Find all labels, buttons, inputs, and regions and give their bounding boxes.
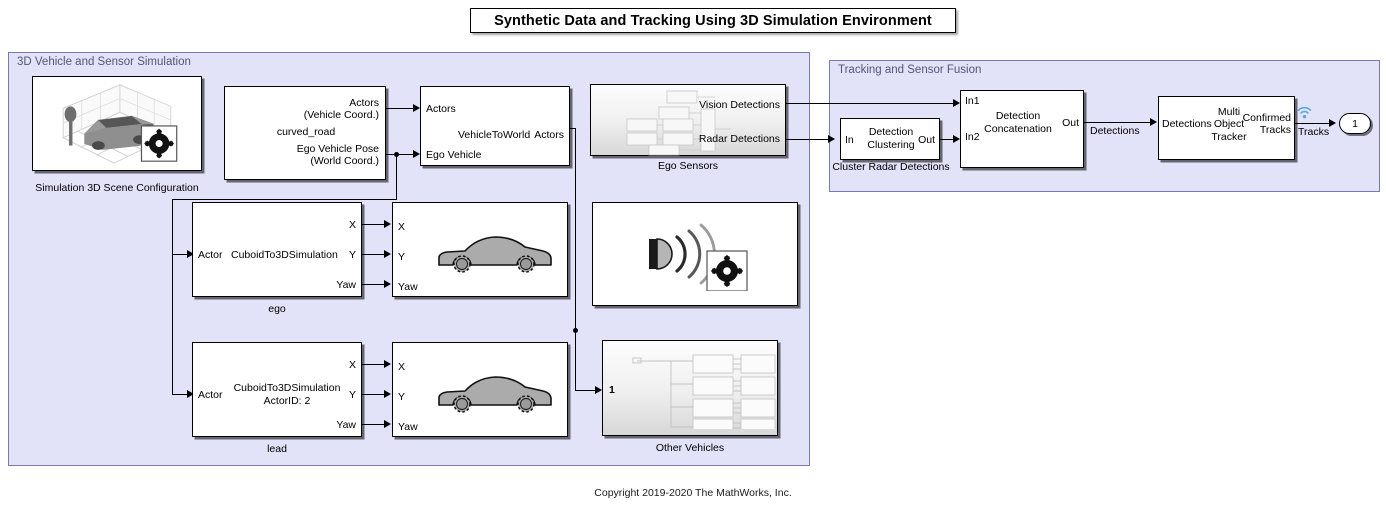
- block-label-other-vehicles: Other Vehicles: [602, 442, 778, 454]
- panel-left-title: 3D Vehicle and Sensor Simulation: [17, 56, 191, 68]
- wire-ego-x: [362, 224, 386, 225]
- wire-v2w-out-down: [575, 128, 576, 390]
- wire-ego-y: [362, 254, 386, 255]
- outport-tracks[interactable]: 1: [1339, 113, 1371, 134]
- arrow-outport-in: [1329, 119, 1336, 127]
- block-name-vehicle-to-world: VehicleToWorld: [458, 129, 530, 141]
- junction-actors-out: [573, 328, 578, 333]
- wire-detections: [1084, 122, 1154, 123]
- port-out-radar-detections: Radar Detections: [650, 133, 780, 145]
- port-out-actors-sublabel: (Vehicle Coord.): [229, 109, 379, 121]
- port-in-x-lead-vehicle: X: [398, 361, 405, 373]
- port-out-egopose-sublabel: (World Coord.): [229, 155, 379, 167]
- port-in-yaw-ego-vehicle: Yaw: [398, 281, 418, 293]
- wire-ego-yaw: [362, 284, 386, 285]
- block-label-scene-config: Simulation 3D Scene Configuration: [32, 182, 202, 194]
- block-lead-vehicle-3d[interactable]: X Y Yaw: [392, 342, 568, 437]
- block-lead-cuboid-to-3d[interactable]: Actor CuboidTo3DSimulation ActorID: 2 X …: [192, 342, 362, 437]
- subsystem-schematic-icon: [591, 85, 787, 157]
- wire-actor-lead-down: [172, 199, 173, 394]
- arrow-concat-in2: [953, 135, 960, 143]
- arrow-ego-x-in: [384, 220, 391, 228]
- signal-label-detections: Detections: [1090, 125, 1140, 137]
- port-in-1-other-vehicles: 1: [609, 384, 615, 396]
- block-ego-sensors[interactable]: Vision Detections Radar Detections: [590, 84, 786, 156]
- port-in-y-ego-vehicle: Y: [398, 251, 405, 263]
- panel-right-title: Tracking and Sensor Fusion: [838, 64, 981, 76]
- subsystem-schematic-icon: [631, 351, 777, 429]
- block-name-curved-road: curved_road: [225, 126, 387, 138]
- port-in1-concat: In1: [965, 95, 980, 107]
- port-out-confirmed-1: Confirmed: [1235, 112, 1291, 124]
- page-title-text: Synthetic Data and Tracking Using 3D Sim…: [494, 13, 932, 29]
- block-other-vehicles[interactable]: 1: [602, 340, 778, 436]
- car-side-icon: [435, 367, 555, 417]
- arrow-tracker-in: [1150, 118, 1157, 126]
- copyright-text: Copyright 2019-2020 The MathWorks, Inc.: [0, 487, 1386, 499]
- port-in-y-lead-vehicle: Y: [398, 391, 405, 403]
- wire-lead-yaw: [362, 424, 386, 425]
- port-out-confirmed-2: Tracks: [1235, 124, 1291, 136]
- wire-lead-y: [362, 394, 386, 395]
- scene-3d-icon: [33, 77, 201, 170]
- wire-egopose-branch-down: [396, 154, 397, 199]
- arrow-lead-y-in: [384, 390, 391, 398]
- arrow-lead-yaw-in: [384, 420, 391, 428]
- car-side-icon: [435, 227, 555, 277]
- port-in-cluster: In: [845, 134, 854, 146]
- block-vehicle-sensor[interactable]: [592, 202, 798, 306]
- block-ego-cuboid-to-3d[interactable]: Actor CuboidTo3DSimulation X Y Yaw: [192, 202, 362, 297]
- port-out-actors-label: Actors: [229, 97, 379, 109]
- block-detection-concatenation[interactable]: In1 In2 Detection Concatenation Out: [960, 90, 1084, 168]
- arrow-cluster-in: [828, 135, 835, 143]
- wire-actors-to-v2w: [385, 108, 415, 109]
- port-out-x-ego: X: [316, 219, 356, 231]
- block-scenario-reader[interactable]: Actors (Vehicle Coord.) curved_road Ego …: [224, 86, 386, 180]
- port-out-cluster: Out: [905, 134, 935, 146]
- block-label-cluster-radar-detections: Cluster Radar Detections: [828, 161, 954, 173]
- wire-radar-detections: [785, 139, 830, 140]
- port-in-egovehicle-label: Ego Vehicle: [426, 149, 481, 161]
- port-in-actor-ego: Actor: [198, 249, 223, 261]
- port-out-x-lead: X: [316, 359, 356, 371]
- outport-number: 1: [1352, 118, 1358, 130]
- page-title: Synthetic Data and Tracking Using 3D Sim…: [470, 8, 956, 33]
- wire-egopose-to-v2w: [385, 154, 415, 155]
- simulink-model-canvas: Synthetic Data and Tracking Using 3D Sim…: [0, 0, 1386, 512]
- arrow-lead-x-in: [384, 360, 391, 368]
- arrow-ego-yaw-in: [384, 280, 391, 288]
- wire-egopose-branch-left: [172, 199, 397, 200]
- port-out-yaw-ego: Yaw: [316, 279, 356, 291]
- wire-vision-detections: [785, 103, 955, 104]
- arrow-concat-in1: [953, 99, 960, 107]
- block-ego-vehicle-3d[interactable]: X Y Yaw: [392, 202, 568, 297]
- port-out-actors-label-v2w: Actors: [524, 129, 564, 141]
- port-in-yaw-lead-vehicle: Yaw: [398, 421, 418, 433]
- wireless-broadcast-icon: [1296, 104, 1313, 121]
- port-in-actor-lead: Actor: [198, 389, 223, 401]
- signal-label-tracks: Tracks: [1298, 126, 1329, 138]
- block-label-ego-sensors: Ego Sensors: [590, 160, 786, 172]
- block-vehicle-to-world[interactable]: Actors VehicleToWorld Actors Ego Vehicle: [420, 86, 570, 166]
- arrow-ego-y-in: [384, 250, 391, 258]
- block-cluster-radar-detections[interactable]: In Detection Clustering Out: [840, 118, 940, 160]
- port-out-vision-detections: Vision Detections: [650, 99, 780, 111]
- block-label-lead: lead: [192, 443, 362, 455]
- block-label-ego: ego: [192, 303, 362, 315]
- port-out-y-ego: Y: [316, 249, 356, 261]
- arrow-othervehicles-in: [595, 386, 602, 394]
- port-in-actors-label: Actors: [426, 103, 456, 115]
- port-out-yaw-lead: Yaw: [316, 419, 356, 431]
- port-in-x-ego-vehicle: X: [398, 221, 405, 233]
- arrow-v2w-actors-in: [413, 104, 420, 112]
- arrow-v2w-ego-in: [413, 150, 420, 158]
- wire-lead-x: [362, 364, 386, 365]
- wire-v2w-to-othervehicles: [575, 390, 597, 391]
- radar-sensor-icon: [633, 219, 763, 291]
- port-out-egopose-label: Ego Vehicle Pose: [229, 143, 379, 155]
- block-multi-object-tracker[interactable]: Detections Multi Object Tracker Confirme…: [1158, 96, 1295, 160]
- port-out-concat: Out: [1049, 117, 1079, 129]
- port-out-y-lead: Y: [316, 389, 356, 401]
- block-simulation-3d-scene-configuration[interactable]: [32, 76, 202, 171]
